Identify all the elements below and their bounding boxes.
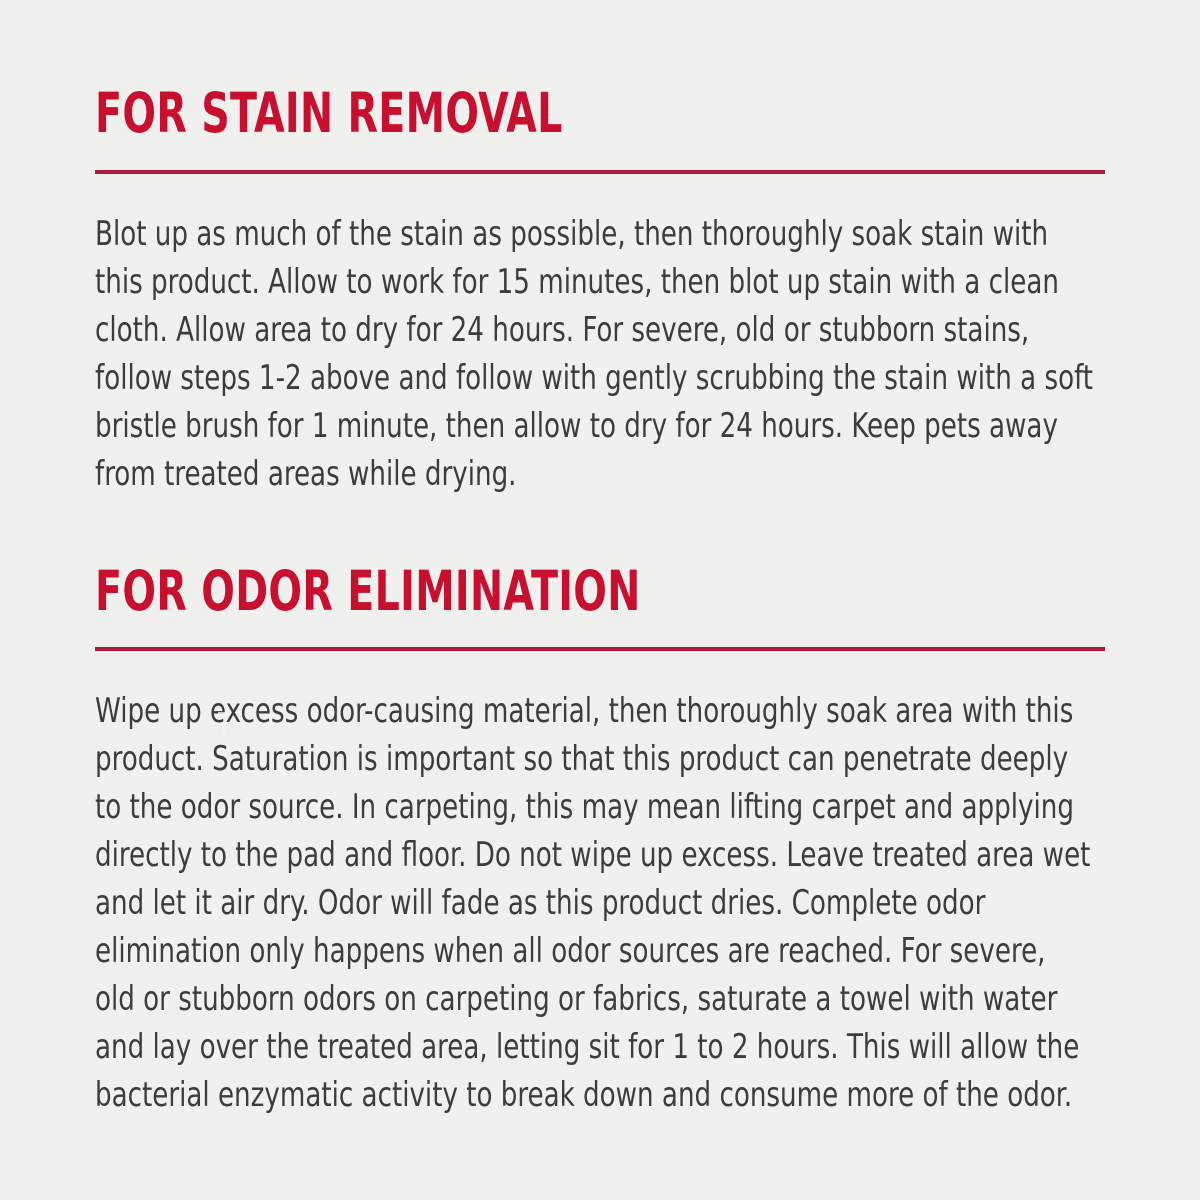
heading-stain-removal: FOR STAIN REMOVAL (95, 86, 903, 141)
heading-divider-stain-removal (95, 170, 1105, 174)
instructions-panel: FOR STAIN REMOVAL Blot up as much of the… (0, 0, 1200, 1200)
heading-divider-odor-elimination (95, 647, 1105, 651)
body-text-stain-removal: Blot up as much of the stain as possible… (95, 210, 1104, 498)
heading-odor-elimination: FOR ODOR ELIMINATION (95, 564, 903, 619)
body-text-odor-elimination: Wipe up excess odor-causing material, th… (95, 687, 1104, 1119)
section-odor-elimination: FOR ODOR ELIMINATION Wipe up excess odor… (95, 498, 1105, 1119)
section-stain-removal: FOR STAIN REMOVAL Blot up as much of the… (95, 0, 1105, 498)
